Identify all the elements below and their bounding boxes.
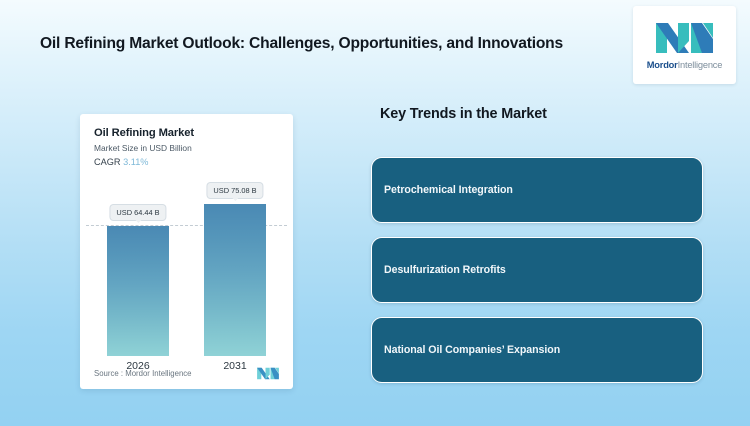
chart-plot-area: USD 64.44 B USD 75.08 B bbox=[80, 190, 293, 356]
bar-value-label: USD 64.44 B bbox=[110, 205, 165, 220]
bar-2026[interactable] bbox=[107, 226, 169, 356]
chart-title: Oil Refining Market bbox=[94, 127, 279, 139]
mordor-mark-icon bbox=[257, 367, 279, 380]
brand-wordmark: MordorIntelligence bbox=[647, 60, 722, 70]
chart-subtitle: Market Size in USD Billion bbox=[94, 143, 279, 153]
brand-logo: MordorIntelligence bbox=[633, 6, 736, 84]
trend-card-label: Desulfurization Retrofits bbox=[384, 264, 506, 276]
trend-card-petrochemical-integration[interactable]: Petrochemical Integration bbox=[371, 157, 703, 223]
mordor-mark-icon bbox=[656, 21, 713, 55]
trend-card-desulfurization-retrofits[interactable]: Desulfurization Retrofits bbox=[371, 237, 703, 303]
page-title: Oil Refining Market Outlook: Challenges,… bbox=[40, 33, 570, 55]
trend-card-label: Petrochemical Integration bbox=[384, 184, 513, 196]
trend-card-national-oil-companies-expansion[interactable]: National Oil Companies’ Expansion bbox=[371, 317, 703, 383]
brand-word-secondary: Intelligence bbox=[678, 60, 723, 70]
chart-cagr-label: CAGR bbox=[94, 157, 121, 167]
brand-word-primary: Mordor bbox=[647, 60, 678, 70]
chart-source: Source : Mordor Intelligence bbox=[94, 369, 192, 378]
bar-2031[interactable] bbox=[204, 204, 266, 356]
key-trends-heading: Key Trends in the Market bbox=[380, 106, 547, 122]
chart-cagr: CAGR 3.11% bbox=[94, 157, 279, 167]
chart-cagr-value: 3.11% bbox=[123, 157, 148, 167]
chart-footer: Source : Mordor Intelligence bbox=[94, 367, 279, 380]
bar-value-label: USD 75.08 B bbox=[207, 183, 262, 198]
trend-card-label: National Oil Companies’ Expansion bbox=[384, 344, 560, 356]
market-size-chart-card: Oil Refining Market Market Size in USD B… bbox=[80, 114, 293, 389]
slide-canvas: Oil Refining Market Outlook: Challenges,… bbox=[0, 0, 750, 426]
